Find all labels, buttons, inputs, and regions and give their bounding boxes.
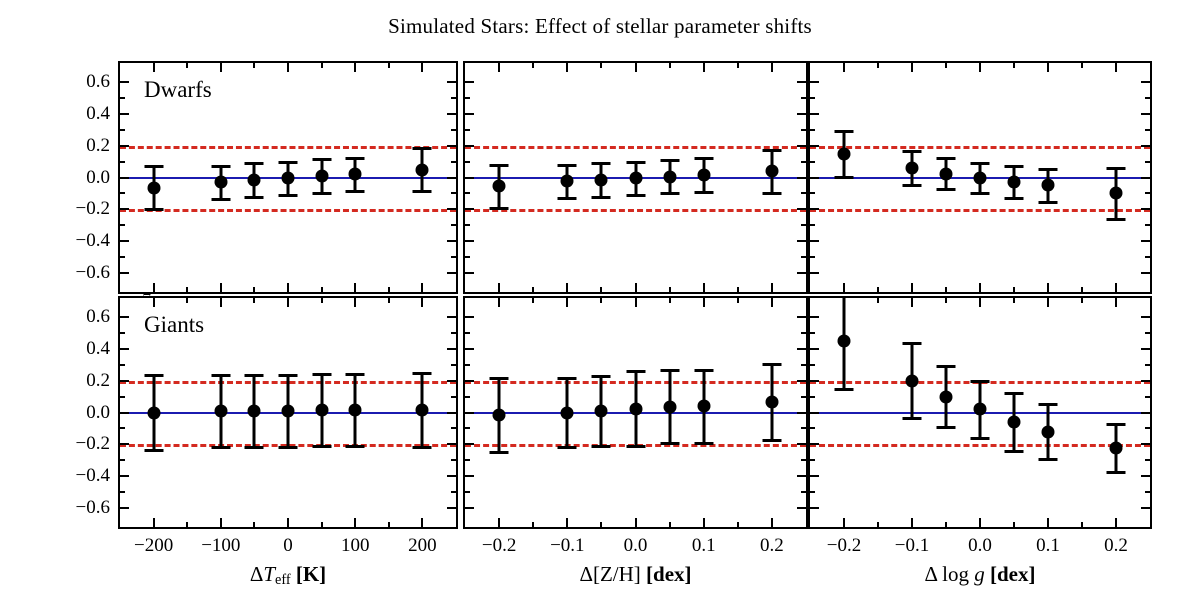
y-tick-minor: [465, 396, 470, 398]
error-bar-cap-lower: [312, 445, 331, 448]
y-tick-major: [1141, 177, 1150, 179]
y-tick-major: [797, 113, 806, 115]
y-tick-major: [465, 380, 474, 382]
error-bar-cap-upper: [694, 369, 713, 372]
x-tick-major: [635, 283, 637, 292]
marker: [561, 175, 574, 188]
y-tick-minor: [120, 161, 125, 163]
error-bar-cap-upper: [1039, 168, 1058, 171]
marker: [349, 404, 362, 417]
error-bar-cap-lower: [346, 190, 365, 193]
x-tick-minor: [388, 63, 390, 68]
x-tick-major: [843, 283, 845, 292]
y-tick-major: [1141, 208, 1150, 210]
y-tick-major: [810, 412, 819, 414]
error-bar-cap-upper: [937, 157, 956, 160]
x-tick-minor: [1013, 63, 1015, 68]
y-tick-major: [465, 443, 474, 445]
error-bar-cap-upper: [1107, 167, 1126, 170]
y-tick-major: [447, 240, 456, 242]
x-tick-minor: [1081, 63, 1083, 68]
marker: [1110, 187, 1123, 200]
threshold-line-upper: [810, 146, 1150, 149]
y-tick-major: [447, 272, 456, 274]
y-tick-minor: [801, 427, 806, 429]
y-tick-major: [465, 348, 474, 350]
x-tick-minor: [186, 298, 188, 303]
error-bar-cap-lower: [413, 446, 432, 449]
x-tick-minor: [945, 522, 947, 527]
y-tick-minor: [1145, 332, 1150, 334]
x-tick-major: [153, 63, 155, 72]
y-tick-minor: [465, 459, 470, 461]
y-tick-major: [120, 443, 129, 445]
error-bar-cap-lower: [144, 208, 163, 211]
x-tick-label: −200: [134, 535, 173, 557]
x-tick-minor: [388, 298, 390, 303]
y-tick-minor: [465, 364, 470, 366]
x-tick-minor: [600, 287, 602, 292]
y-tick-minor: [1145, 256, 1150, 258]
marker: [765, 165, 778, 178]
y-tick-minor: [1145, 491, 1150, 493]
marker: [315, 169, 328, 182]
error-bar-cap-upper: [592, 375, 611, 378]
y-tick-minor: [120, 224, 125, 226]
marker: [595, 404, 608, 417]
x-axis-title-teff-sub: eff: [275, 572, 291, 588]
y-tick-minor: [801, 129, 806, 131]
y-tick-minor: [451, 427, 456, 429]
error-bar-cap-lower: [144, 449, 163, 452]
marker: [493, 180, 506, 193]
threshold-line-lower: [810, 444, 1150, 447]
error-bar-cap-lower: [312, 192, 331, 195]
y-tick-label: 0.0: [44, 167, 110, 189]
error-bar-cap-lower: [937, 188, 956, 191]
x-tick-label: −0.1: [550, 535, 584, 557]
y-tick-minor: [1145, 427, 1150, 429]
y-tick-major: [810, 316, 819, 318]
x-tick-label: 0.2: [1104, 535, 1128, 557]
x-tick-major: [153, 298, 155, 307]
marker: [1110, 442, 1123, 455]
error-bar-cap-lower: [903, 417, 922, 420]
marker: [974, 403, 987, 416]
y-tick-major: [1141, 81, 1150, 83]
y-tick-minor: [801, 224, 806, 226]
y-tick-major: [797, 475, 806, 477]
x-tick-major: [287, 518, 289, 527]
x-tick-major: [979, 298, 981, 307]
x-tick-major: [911, 518, 913, 527]
y-tick-minor: [451, 396, 456, 398]
figure: Simulated Stars: Effect of stellar param…: [0, 0, 1200, 604]
error-bar-cap-upper: [835, 130, 854, 133]
y-tick-label: −0.6: [44, 497, 110, 519]
error-bar-cap-lower: [245, 196, 264, 199]
error-bar-cap-upper: [245, 162, 264, 165]
y-tick-major: [120, 507, 129, 509]
y-tick-major: [120, 348, 129, 350]
y-tick-major: [810, 475, 819, 477]
error-bar-cap-lower: [558, 446, 577, 449]
x-axis-title-zh: Δ[Z/H] [dex]: [579, 562, 691, 587]
x-tick-label: 0: [283, 535, 293, 557]
y-tick-major: [797, 412, 806, 414]
x-tick-major: [703, 518, 705, 527]
x-tick-major: [287, 283, 289, 292]
x-axis-title-logg-delta: Δ log: [925, 562, 975, 586]
x-tick-major: [421, 283, 423, 292]
y-tick-minor: [801, 491, 806, 493]
x-tick-minor: [1013, 298, 1015, 303]
y-tick-major: [120, 240, 129, 242]
y-tick-minor: [465, 256, 470, 258]
marker: [595, 173, 608, 186]
x-tick-major: [1047, 518, 1049, 527]
x-tick-major: [843, 63, 845, 72]
y-tick-label: 0.2: [44, 370, 110, 392]
error-bar-cap-upper: [144, 374, 163, 377]
y-tick-label: −0.2: [44, 198, 110, 220]
y-tick-minor: [451, 192, 456, 194]
y-tick-minor: [1145, 459, 1150, 461]
y-tick-minor: [810, 192, 815, 194]
error-bar-cap-lower: [413, 190, 432, 193]
x-tick-major: [354, 518, 356, 527]
error-bar-cap-lower: [558, 197, 577, 200]
error-bar-cap-upper: [626, 161, 645, 164]
y-tick-minor: [120, 364, 125, 366]
y-tick-major: [797, 81, 806, 83]
y-tick-minor: [451, 491, 456, 493]
y-tick-minor: [120, 459, 125, 461]
x-tick-major: [703, 298, 705, 307]
y-tick-minor: [810, 364, 815, 366]
error-bar-cap-lower: [694, 442, 713, 445]
marker: [629, 402, 642, 415]
y-tick-major: [797, 272, 806, 274]
y-tick-major: [797, 348, 806, 350]
error-bar-cap-upper: [626, 370, 645, 373]
y-tick-major: [465, 240, 474, 242]
error-bar-cap-lower: [211, 198, 230, 201]
y-tick-major: [810, 177, 819, 179]
error-bar-cap-upper: [1039, 403, 1058, 406]
y-tick-minor: [465, 97, 470, 99]
error-bar-cap-lower: [279, 194, 298, 197]
error-bar-cap-upper: [971, 162, 990, 165]
y-tick-minor: [801, 256, 806, 258]
plot-panel-giants-teff: Giants: [118, 296, 458, 529]
y-tick-minor: [465, 161, 470, 163]
marker: [906, 374, 919, 387]
x-tick-minor: [945, 287, 947, 292]
y-tick-minor: [465, 192, 470, 194]
marker: [629, 172, 642, 185]
x-tick-major: [153, 283, 155, 292]
error-bar-cap-lower: [279, 446, 298, 449]
error-bar-cap-upper: [144, 165, 163, 168]
y-tick-major: [810, 443, 819, 445]
marker: [147, 406, 160, 419]
y-tick-major: [120, 208, 129, 210]
error-bar-cap-upper: [1005, 165, 1024, 168]
y-tick-label: 0.4: [44, 338, 110, 360]
marker: [940, 167, 953, 180]
x-tick-major: [153, 518, 155, 527]
x-tick-minor: [1081, 287, 1083, 292]
y-tick-minor: [1145, 129, 1150, 131]
threshold-line-lower: [465, 209, 806, 212]
marker: [493, 408, 506, 421]
error-bar-cap-upper: [211, 374, 230, 377]
error-bar-cap-upper: [312, 373, 331, 376]
x-tick-major: [287, 63, 289, 72]
error-bar-cap-upper: [490, 377, 509, 380]
y-tick-major: [465, 145, 474, 147]
x-tick-major: [220, 283, 222, 292]
x-tick-label: −100: [201, 535, 240, 557]
x-axis-title-teff-var: T: [263, 562, 275, 586]
y-tick-major: [810, 240, 819, 242]
y-tick-minor: [465, 332, 470, 334]
x-tick-major: [635, 298, 637, 307]
y-tick-minor: [120, 256, 125, 258]
x-tick-major: [843, 518, 845, 527]
x-tick-minor: [600, 298, 602, 303]
x-tick-minor: [737, 287, 739, 292]
y-tick-minor: [810, 332, 815, 334]
error-bar-cap-lower: [971, 192, 990, 195]
marker: [663, 400, 676, 413]
error-bar-cap-upper: [413, 147, 432, 150]
x-tick-label: −0.2: [827, 535, 861, 557]
error-bar-cap-lower: [835, 388, 854, 391]
x-tick-major: [1115, 283, 1117, 292]
x-tick-major: [220, 298, 222, 307]
y-tick-minor: [1145, 192, 1150, 194]
panel-label-giants: Giants: [144, 312, 204, 338]
x-tick-major: [421, 298, 423, 307]
y-tick-major: [797, 507, 806, 509]
error-bar-cap-lower: [1039, 201, 1058, 204]
y-tick-minor: [451, 224, 456, 226]
threshold-line-upper: [465, 146, 806, 149]
error-bar-cap-upper: [211, 165, 230, 168]
x-tick-major: [911, 63, 913, 72]
error-bar-cap-upper: [694, 157, 713, 160]
y-tick-minor: [1145, 364, 1150, 366]
y-tick-minor: [451, 459, 456, 461]
marker: [561, 406, 574, 419]
x-tick-label: 0.0: [968, 535, 992, 557]
y-tick-minor: [810, 459, 815, 461]
x-tick-major: [421, 63, 423, 72]
y-tick-major: [447, 177, 456, 179]
x-tick-minor: [1013, 287, 1015, 292]
x-tick-major: [979, 63, 981, 72]
y-tick-minor: [451, 332, 456, 334]
y-tick-major: [1141, 316, 1150, 318]
error-bar-cap-lower: [694, 191, 713, 194]
y-tick-minor: [451, 129, 456, 131]
x-tick-label: 0.0: [624, 535, 648, 557]
y-tick-major: [447, 443, 456, 445]
x-tick-label: 0.2: [760, 535, 784, 557]
error-bar-cap-upper: [1107, 423, 1126, 426]
marker: [147, 181, 160, 194]
plot-panel-giants-zh: [463, 296, 808, 529]
x-tick-major: [354, 63, 356, 72]
x-tick-major: [771, 63, 773, 72]
x-axis-title-logg: Δ log g [dex]: [925, 562, 1036, 587]
marker: [214, 404, 227, 417]
error-bar-cap-upper: [762, 363, 781, 366]
y-tick-minor: [120, 491, 125, 493]
y-tick-major: [120, 272, 129, 274]
y-tick-label: −0.4: [44, 465, 110, 487]
x-tick-label: 0.1: [692, 535, 716, 557]
marker: [282, 404, 295, 417]
y-tick-major: [797, 145, 806, 147]
y-tick-label: −0.4: [44, 230, 110, 252]
y-tick-major: [1141, 348, 1150, 350]
y-tick-major: [810, 113, 819, 115]
error-bar-cap-lower: [490, 451, 509, 454]
x-tick-minor: [388, 287, 390, 292]
x-tick-minor: [1013, 522, 1015, 527]
x-tick-minor: [1081, 298, 1083, 303]
marker: [1008, 176, 1021, 189]
y-tick-minor: [801, 364, 806, 366]
x-tick-minor: [186, 63, 188, 68]
y-tick-major: [810, 145, 819, 147]
x-tick-major: [220, 518, 222, 527]
x-tick-major: [1047, 298, 1049, 307]
error-bar-cap-upper: [903, 150, 922, 153]
marker: [416, 404, 429, 417]
x-tick-minor: [321, 63, 323, 68]
y-tick-major: [797, 240, 806, 242]
plot-panel-dwarfs-logg: [808, 61, 1152, 294]
x-axis-title-teff-unit: [K]: [296, 562, 326, 586]
error-bar-cap-lower: [626, 194, 645, 197]
x-tick-minor: [253, 287, 255, 292]
error-bar-cap-upper: [660, 369, 679, 372]
y-tick-major: [797, 380, 806, 382]
y-tick-minor: [451, 97, 456, 99]
y-tick-major: [120, 177, 129, 179]
x-tick-minor: [737, 298, 739, 303]
x-tick-major: [287, 298, 289, 307]
x-tick-major: [911, 298, 913, 307]
y-tick-major: [1141, 145, 1150, 147]
y-tick-minor: [120, 129, 125, 131]
error-bar-cap-upper: [245, 374, 264, 377]
x-tick-major: [354, 298, 356, 307]
x-axis-title-zh-unit: [dex]: [646, 562, 692, 586]
error-bar-cap-lower: [245, 446, 264, 449]
error-bar-cap-upper: [413, 372, 432, 375]
x-tick-major: [1115, 298, 1117, 307]
y-tick-minor: [801, 192, 806, 194]
x-tick-minor: [669, 522, 671, 527]
marker: [1008, 416, 1021, 429]
y-tick-major: [120, 81, 129, 83]
y-tick-major: [120, 412, 129, 414]
x-tick-major: [566, 518, 568, 527]
x-tick-minor: [321, 522, 323, 527]
y-tick-major: [1141, 240, 1150, 242]
y-tick-minor: [120, 396, 125, 398]
x-axis-title-logg-unit: [dex]: [990, 562, 1036, 586]
y-tick-major: [120, 316, 129, 318]
error-bar-cap-lower: [937, 426, 956, 429]
y-tick-minor: [1145, 224, 1150, 226]
error-bar-cap-lower: [490, 207, 509, 210]
y-tick-major: [447, 507, 456, 509]
x-tick-minor: [321, 287, 323, 292]
x-tick-minor: [669, 63, 671, 68]
error-bar-cap-upper: [1005, 392, 1024, 395]
marker: [315, 404, 328, 417]
panel-label-dwarfs: Dwarfs: [144, 77, 212, 103]
y-tick-major: [447, 475, 456, 477]
error-bar-cap-upper: [592, 162, 611, 165]
x-tick-major: [354, 283, 356, 292]
marker: [248, 173, 261, 186]
y-tick-major: [465, 475, 474, 477]
x-tick-minor: [877, 522, 879, 527]
y-tick-major: [465, 81, 474, 83]
x-tick-major: [1047, 283, 1049, 292]
y-tick-major: [465, 412, 474, 414]
y-tick-minor: [1145, 396, 1150, 398]
x-tick-minor: [253, 298, 255, 303]
x-tick-minor: [877, 298, 879, 303]
y-tick-label: 0.6: [44, 306, 110, 328]
y-tick-minor: [451, 256, 456, 258]
y-tick-major: [447, 145, 456, 147]
error-bar-cap-lower: [1107, 471, 1126, 474]
error-bar-cap-upper: [346, 373, 365, 376]
error-bar-cap-lower: [660, 192, 679, 195]
y-tick-minor: [810, 224, 815, 226]
y-tick-minor: [465, 129, 470, 131]
x-tick-minor: [945, 63, 947, 68]
x-tick-major: [498, 283, 500, 292]
marker: [416, 163, 429, 176]
marker: [697, 169, 710, 182]
y-tick-major: [465, 272, 474, 274]
marker: [663, 170, 676, 183]
x-tick-minor: [600, 522, 602, 527]
y-tick-minor: [801, 161, 806, 163]
y-tick-major: [465, 507, 474, 509]
error-bar-cap-lower: [971, 437, 990, 440]
y-tick-minor: [465, 224, 470, 226]
y-tick-label: −0.2: [44, 433, 110, 455]
x-axis-title-teff-delta: Δ: [250, 562, 264, 586]
y-tick-major: [120, 380, 129, 382]
error-bar-cap-upper: [558, 377, 577, 380]
x-tick-minor: [253, 63, 255, 68]
y-tick-major: [120, 145, 129, 147]
plot-panel-giants-logg: [808, 296, 1152, 529]
error-bar-cap-lower: [626, 445, 645, 448]
